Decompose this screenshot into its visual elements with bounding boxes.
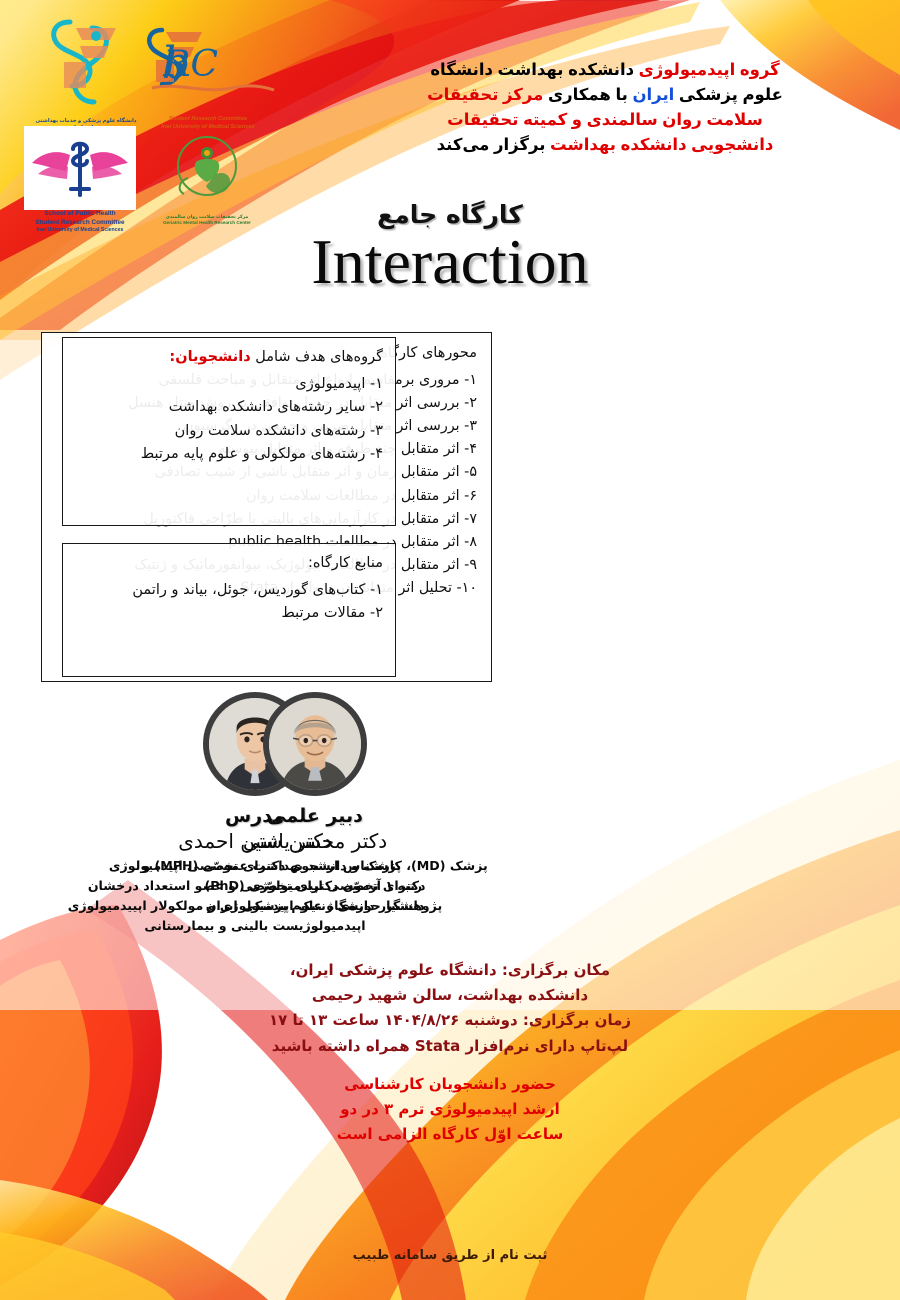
svg-text:RC: RC bbox=[162, 44, 218, 85]
target-groups-list: ۱- اپیدمیولوژی ۲- سایر رشته‌های دانشکده … bbox=[73, 373, 383, 467]
logo-strip: دانشگاه علوم پزشکی و خدمات بهداشتی درمان… bbox=[12, 6, 292, 211]
organizer-line1-part-b: دانشکده بهداشت دانشگاه bbox=[430, 61, 634, 79]
notice-line: ارشد اپیدمیولوژی ترم ۳ در دو bbox=[0, 1097, 900, 1122]
avatar bbox=[263, 692, 367, 796]
list-item: ۲- مقالات مرتبط bbox=[73, 602, 383, 625]
mandatory-attendance-notice: حضور دانشجویان کارشناسی ارشد اپیدمیولوژی… bbox=[0, 1072, 900, 1147]
target-groups-heading: گروه‌های هدف شامل دانشجویان: bbox=[73, 347, 383, 369]
target-groups-box: گروه‌های هدف شامل دانشجویان: ۱- اپیدمیول… bbox=[62, 337, 396, 526]
organizer-line-4: دانشجویی دانشکده بهداشت برگزار می‌کند bbox=[340, 133, 870, 158]
organizer-line2-part-b: ایران bbox=[632, 86, 674, 104]
scientific-secretary-block: دبیر علمی دکتر محسن شتی پزشک (MD)، کارشن… bbox=[125, 692, 505, 916]
venue-line: زمان برگزاری: دوشنبه ۱۴۰۴/۸/۲۶ ساعت ۱۳ ت… bbox=[0, 1008, 900, 1033]
organizer-header: گروه اپیدمیولوژی دانشکده بهداشت دانشگاه … bbox=[340, 58, 870, 158]
organizer-line-1: گروه اپیدمیولوژی دانشکده بهداشت دانشگاه bbox=[340, 58, 870, 83]
instructor-bio-line: اپیدمیولوژیست بالینی و بیمارستانی bbox=[65, 916, 445, 936]
venue-and-time-block: مکان برگزاری: دانشگاه علوم پزشکی ایران، … bbox=[0, 958, 900, 1059]
target-groups-heading-part-b: دانشجویان: bbox=[169, 349, 250, 365]
list-item: ۳- رشته‌های دانشکده سلامت روان bbox=[73, 420, 383, 443]
list-item: ۱- کتاب‌های گوردیس، جوئل، بیاند و راتمن bbox=[73, 579, 383, 602]
title-english: Interaction bbox=[0, 227, 900, 296]
organizer-line4-part-a: دانشجویی دانشکده بهداشت bbox=[550, 136, 773, 154]
venue-line: دانشکده بهداشت، سالن شهید رحیمی bbox=[0, 983, 900, 1008]
organizer-line4-part-b: برگزار می‌کند bbox=[437, 136, 546, 154]
organizer-line-2: علوم پزشکی ایران با همکاری مرکز تحقیقات bbox=[340, 83, 870, 108]
target-groups-heading-part-a: گروه‌های هدف شامل bbox=[255, 349, 383, 365]
iums-logo: دانشگاه علوم پزشکی و خدمات بهداشتی درمان… bbox=[30, 10, 142, 118]
references-list: ۱- کتاب‌های گوردیس، جوئل، بیاند و راتمن … bbox=[73, 579, 383, 626]
secretary-role: دبیر علمی bbox=[125, 805, 505, 827]
secretary-bio-line: پزشک (MD)، کارشناس ارشد بهداشت عمومی (MP… bbox=[125, 856, 505, 876]
organizer-line1-part-a: گروه اپیدمیولوژی bbox=[639, 61, 780, 79]
organizer-line2-part-c: با همکاری bbox=[548, 86, 628, 104]
organizer-line2-part-d: مرکز تحقیقات bbox=[427, 86, 543, 104]
list-item: ۱- اپیدمیولوژی bbox=[73, 373, 383, 396]
student-research-committee-logo: b RC Student Research Committee Iran Uni… bbox=[132, 10, 284, 116]
venue-line: لپ‌تاپ دارای نرم‌افزار Stata همراه داشته… bbox=[0, 1034, 900, 1059]
workshop-references-box: منابع کارگاه: ۱- کتاب‌های گوردیس، جوئل، … bbox=[62, 543, 396, 677]
organizer-line2-part-a: علوم پزشکی bbox=[679, 86, 783, 104]
src-logo-caption-line1: Student Research Committee bbox=[132, 116, 284, 124]
secretary-bio: پزشک (MD)، کارشناس ارشد بهداشت عمومی (MP… bbox=[125, 856, 505, 916]
poster-root: دانشگاه علوم پزشکی و خدمات بهداشتی درمان… bbox=[0, 0, 900, 1300]
notice-line: ساعت اوّل کارگاه الزامی است bbox=[0, 1122, 900, 1147]
list-item: ۴- رشته‌های مولکولی و علوم پایه مرتبط bbox=[73, 443, 383, 466]
title-persian: کارگاه جامع bbox=[0, 200, 900, 229]
poster-title: کارگاه جامع Interaction bbox=[0, 200, 900, 296]
school-public-health-src-logo: School of Public Health Student Research… bbox=[24, 126, 136, 210]
secretary-name: دکتر محسن شتی bbox=[125, 829, 505, 853]
notice-line: حضور دانشجویان کارشناسی bbox=[0, 1072, 900, 1097]
secretary-bio-line: دکترای تخصّصی اپیدمیولوژی (PhD) bbox=[125, 876, 505, 896]
secretary-bio-line: دانشیار دانشگاه علوم پزشکی ایران bbox=[125, 896, 505, 916]
venue-line: مکان برگزاری: دانشگاه علوم پزشکی ایران، bbox=[0, 958, 900, 983]
list-item: ۲- سایر رشته‌های دانشکده بهداشت bbox=[73, 396, 383, 419]
registration-footer: ثبت نام از طریق سامانه طبیب bbox=[0, 1248, 900, 1263]
references-heading: منابع کارگاه: bbox=[73, 553, 383, 575]
organizer-line-3: سلامت روان سالمندی و کمیته تحقیقات bbox=[340, 108, 870, 133]
